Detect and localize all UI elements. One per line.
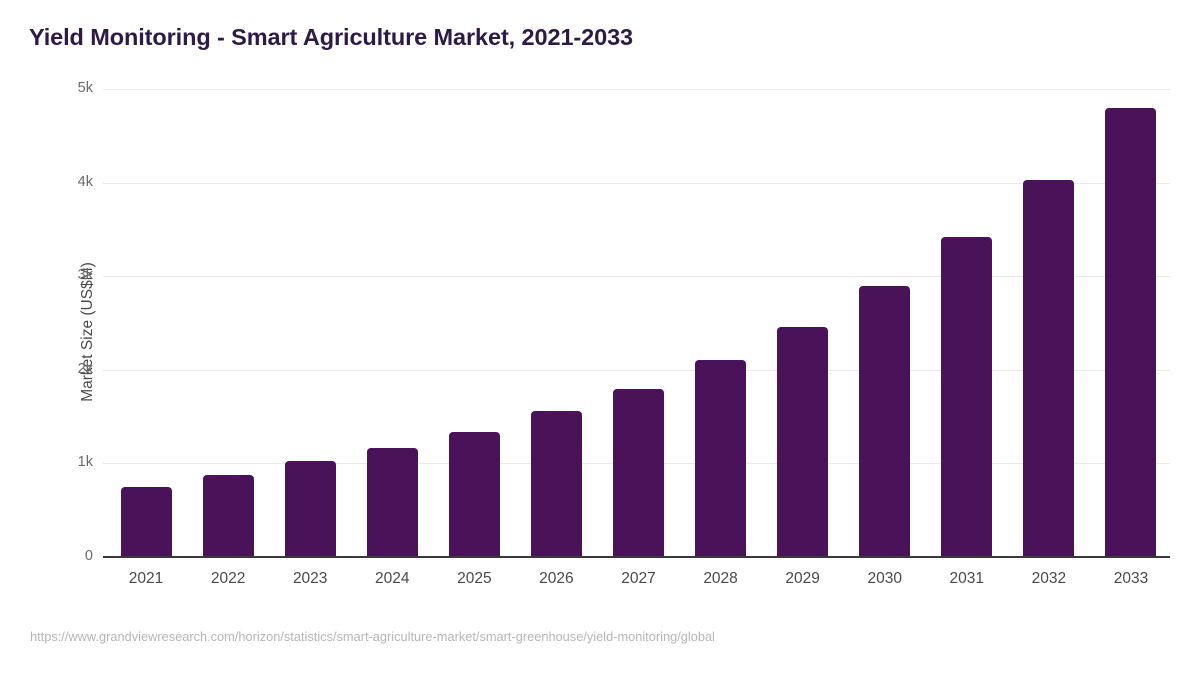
x-axis-tick: 2028 <box>681 570 761 588</box>
bar[interactable] <box>941 237 992 557</box>
y-axis-tick: 5k <box>78 80 93 96</box>
gridline <box>103 276 1170 277</box>
bar[interactable] <box>121 487 172 557</box>
x-axis-tick: 2030 <box>845 570 925 588</box>
chart-card: Yield Monitoring - Smart Agriculture Mar… <box>0 0 1200 675</box>
bar[interactable] <box>449 432 500 557</box>
page-title: Yield Monitoring - Smart Agriculture Mar… <box>29 24 633 51</box>
source-url[interactable]: https://www.grandviewresearch.com/horizo… <box>30 629 715 644</box>
bar[interactable] <box>613 389 664 557</box>
x-axis-tick: 2033 <box>1091 570 1171 588</box>
plot-area <box>103 89 1170 557</box>
bar[interactable] <box>695 360 746 557</box>
x-axis-tick: 2032 <box>1009 570 1089 588</box>
y-axis-tick: 2k <box>78 361 93 377</box>
bar[interactable] <box>531 411 582 557</box>
bar[interactable] <box>777 327 828 557</box>
x-axis-tick: 2024 <box>352 570 432 588</box>
bar[interactable] <box>1105 108 1156 557</box>
bar[interactable] <box>367 448 418 557</box>
x-axis-tick: 2031 <box>927 570 1007 588</box>
x-axis-tick: 2025 <box>434 570 514 588</box>
bar[interactable] <box>1023 180 1074 557</box>
bar[interactable] <box>203 475 254 557</box>
x-axis-tick: 2021 <box>106 570 186 588</box>
x-axis-tick: 2026 <box>516 570 596 588</box>
x-axis-tick: 2027 <box>599 570 679 588</box>
y-axis-tick: 0 <box>85 548 93 564</box>
y-axis-label: Market Size (US$M) <box>79 222 97 442</box>
gridline <box>103 183 1170 184</box>
x-axis-line <box>103 556 1170 558</box>
y-axis-tick: 3k <box>78 267 93 283</box>
bar[interactable] <box>285 461 336 557</box>
bar[interactable] <box>859 286 910 557</box>
y-axis-tick: 1k <box>78 454 93 470</box>
gridline <box>103 89 1170 90</box>
gridline <box>103 370 1170 371</box>
x-axis-tick: 2023 <box>270 570 350 588</box>
x-axis-tick: 2029 <box>763 570 843 588</box>
y-axis-tick: 4k <box>78 174 93 190</box>
x-axis-tick: 2022 <box>188 570 268 588</box>
